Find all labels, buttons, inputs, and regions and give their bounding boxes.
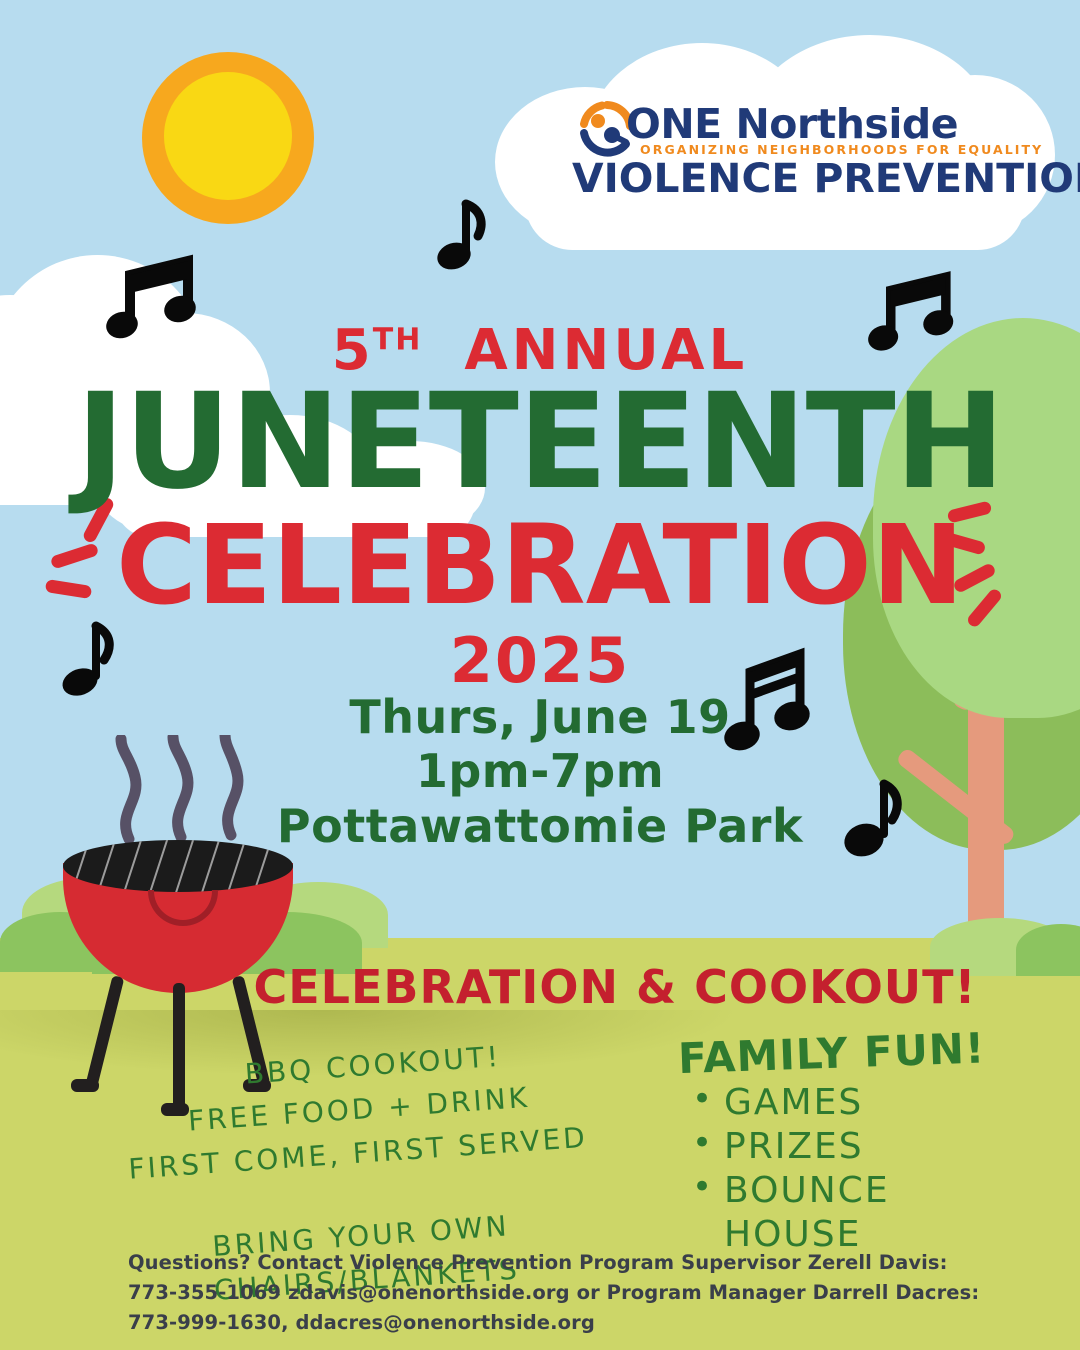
contact-line-2: 773-355-1069 zdavis@onenorthside.org or …	[128, 1278, 988, 1308]
cookout-banner: CELEBRATION & COOKOUT!	[0, 960, 1080, 1014]
logo-name: ONE Northside	[626, 100, 958, 148]
headline-subtitle: CELEBRATION	[0, 512, 1080, 620]
headline-ordinal-suffix: TH	[373, 322, 423, 357]
family-fun-heading: FAMILY FUN!	[677, 1022, 1032, 1083]
list-item: BOUNCE	[690, 1169, 1032, 1213]
event-date: Thurs, June 19	[0, 690, 1080, 744]
list-item: GAMES	[690, 1081, 1032, 1125]
contact-line-1: Questions? Contact Violence Prevention P…	[128, 1248, 988, 1278]
logo-tagline: ORGANIZING NEIGHBORHOODS FOR EQUALITY	[640, 142, 1043, 157]
event-time: 1pm-7pm	[0, 744, 1080, 798]
headline-year: 2025	[0, 624, 1080, 697]
grill-foot-left	[71, 1079, 99, 1092]
contact-block: Questions? Contact Violence Prevention P…	[128, 1248, 988, 1339]
headline-event: JUNETEENTH	[0, 379, 1080, 506]
family-fun-block: FAMILY FUN! GAMES PRIZES BOUNCE HOUSE	[672, 1028, 1032, 1257]
list-item: PRIZES	[690, 1125, 1032, 1169]
logo-program: VIOLENCE PREVENTION	[572, 156, 1080, 202]
logo-block: ONE Northside ORGANIZING NEIGHBORHOODS F…	[578, 98, 938, 198]
family-fun-list: GAMES PRIZES BOUNCE HOUSE	[672, 1081, 1032, 1257]
cookout-banner-text: CELEBRATION & COOKOUT!	[253, 960, 976, 1014]
sun-icon	[112, 22, 344, 254]
headline-block: 5THANNUAL JUNETEENTH CELEBRATION 2025	[0, 318, 1080, 697]
contact-line-3: 773-999-1630, ddacres@onenorthside.org	[128, 1308, 988, 1338]
juneteenth-flyer: ONE Northside ORGANIZING NEIGHBORHOODS F…	[0, 0, 1080, 1350]
event-details: Thurs, June 19 1pm-7pm Pottawattomie Par…	[0, 690, 1080, 853]
sun-disc-inner	[164, 72, 292, 200]
event-location: Pottawattomie Park	[0, 799, 1080, 853]
music-note-single-icon	[422, 190, 492, 280]
